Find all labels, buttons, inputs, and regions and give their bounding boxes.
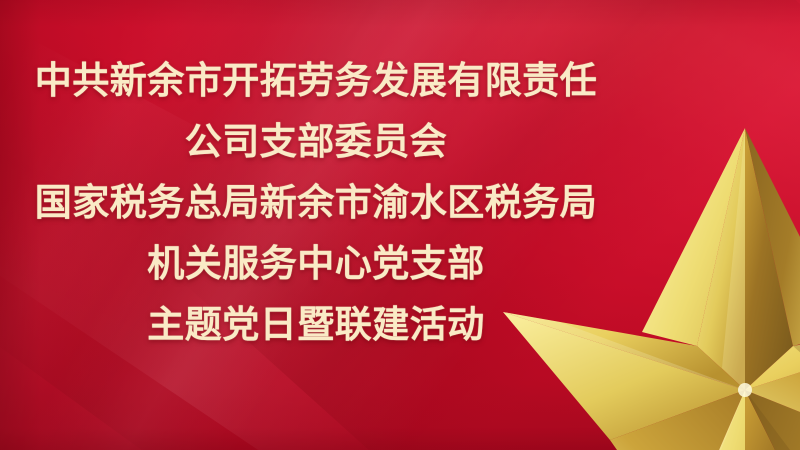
poster-backdrop: 中共新余市开拓劳务发展有限责任 公司支部委员会 国家税务总局新余市渝水区税务局 … (0, 0, 800, 450)
headline-line-3: 国家税务总局新余市渝水区税务局 (0, 172, 632, 233)
headline-block: 中共新余市开拓劳务发展有限责任 公司支部委员会 国家税务总局新余市渝水区税务局 … (0, 50, 632, 355)
headline-line-2: 公司支部委员会 (0, 111, 632, 172)
headline-line-4: 机关服务中心党支部 (0, 233, 632, 294)
headline-line-1: 中共新余市开拓劳务发展有限责任 (0, 50, 632, 111)
headline-line-5: 主题党日暨联建活动 (0, 294, 632, 355)
